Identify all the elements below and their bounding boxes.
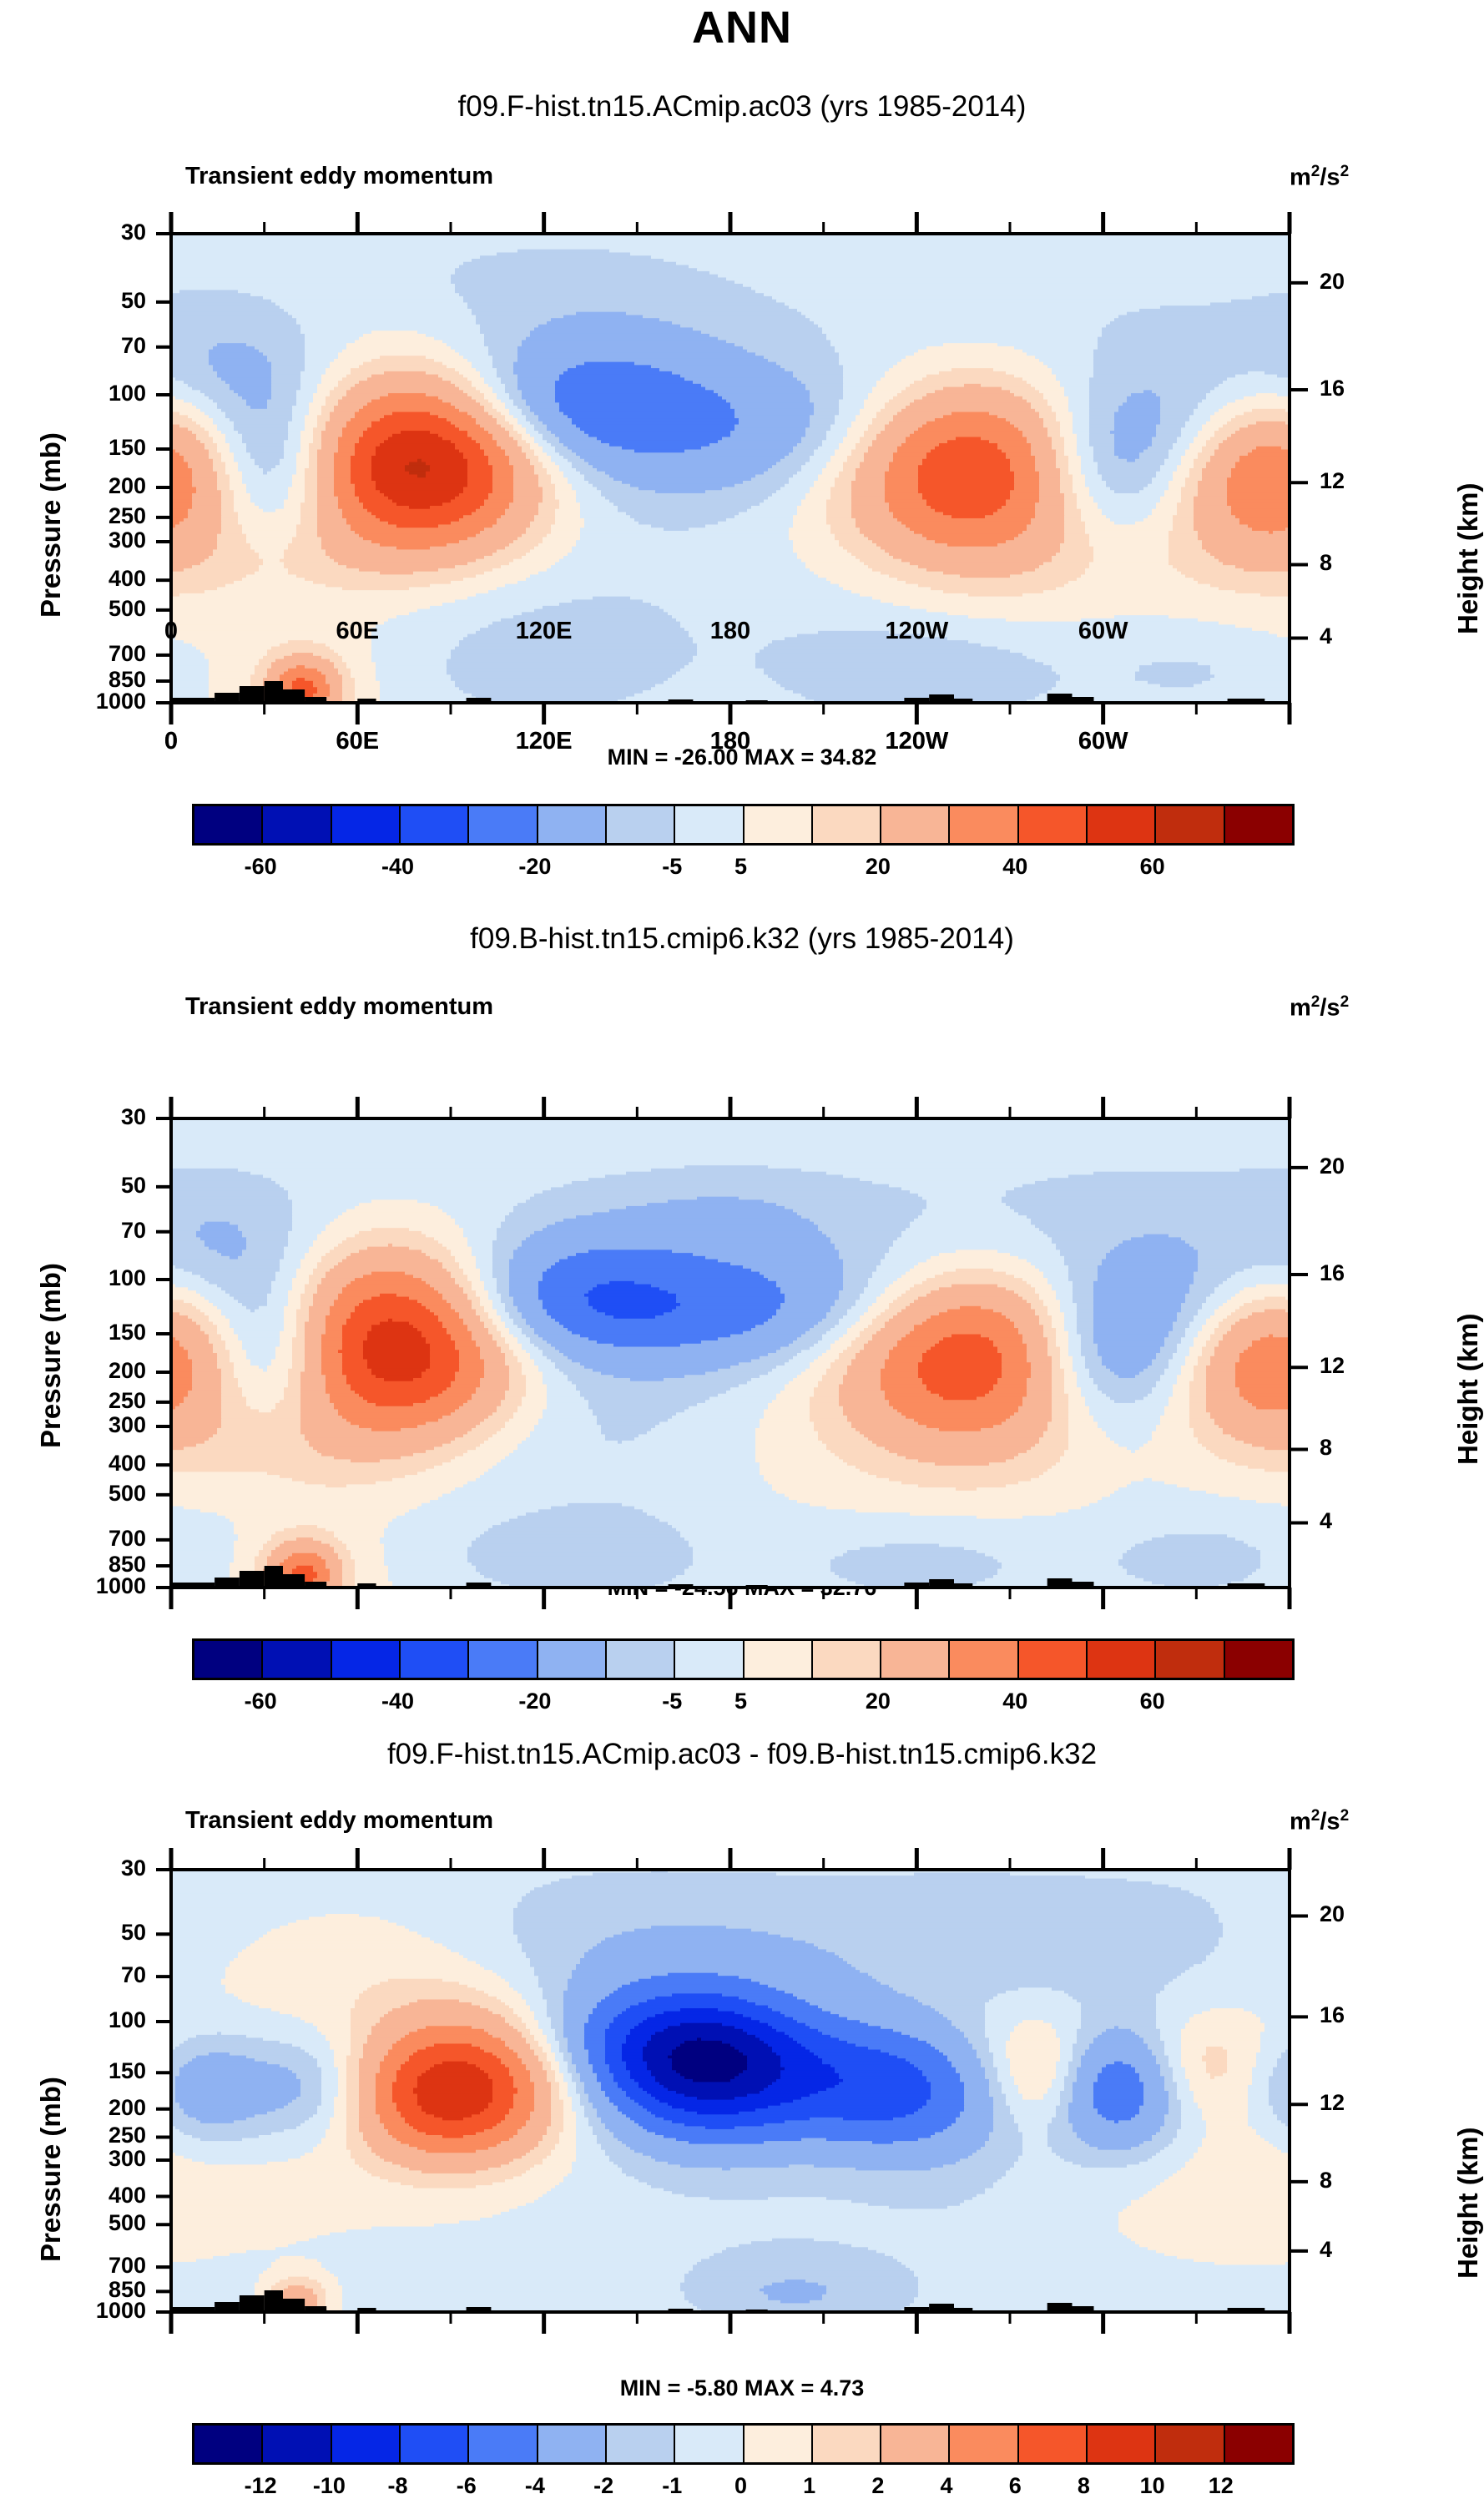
colorbar-tick-label: 40 (965, 1689, 1065, 1714)
colorbar-segment (401, 1641, 469, 1678)
colorbar-segment (1019, 1641, 1088, 1678)
colorbar[interactable] (192, 804, 1295, 846)
height-tick-label: 8 (1320, 550, 1332, 576)
colorbar-segment (1088, 2426, 1156, 2462)
height-tick-label: 16 (1320, 1260, 1345, 1286)
pressure-tick-label: 30 (4, 1855, 146, 1881)
longitude-tick-label: 60E (282, 618, 432, 645)
colorbar-tick-label: 40 (965, 854, 1065, 880)
colorbar-tick-label: 12 (1171, 2473, 1271, 2499)
colorbar-segment (607, 2426, 675, 2462)
colorbar-segment (401, 806, 469, 843)
colorbar-segment (263, 2426, 331, 2462)
colorbar-tick-label: 60 (1103, 1689, 1203, 1714)
colorbar-segment (1156, 1641, 1224, 1678)
pressure-tick-label: 30 (4, 1104, 146, 1130)
colorbar-segment (675, 1641, 744, 1678)
colorbar-segment (950, 1641, 1018, 1678)
height-tick-label: 16 (1320, 376, 1345, 401)
height-tick-label: 8 (1320, 2168, 1332, 2194)
colorbar-segment (1088, 806, 1156, 843)
height-tick-label: 20 (1320, 1154, 1345, 1179)
colorbar-tick-label: -20 (485, 1689, 585, 1714)
pressure-tick-label: 1000 (4, 689, 146, 714)
longitude-tick-label: 180 (655, 728, 805, 755)
pressure-tick-label: 300 (4, 1412, 146, 1438)
colorbar-tick-label: 20 (828, 1689, 928, 1714)
longitude-tick-label: 0 (96, 728, 246, 755)
colorbar-segment (813, 2426, 881, 2462)
panel-difference: f09.F-hist.tn15.ACmip.ac03 - f09.B-hist.… (0, 1719, 1484, 2482)
pressure-tick-label: 100 (4, 381, 146, 406)
plot-canvas (0, 1719, 1484, 2370)
pressure-tick-label: 100 (4, 2007, 146, 2033)
colorbar-segment (1156, 806, 1224, 843)
longitude-tick-label: 120E (469, 618, 619, 645)
colorbar[interactable] (192, 1638, 1295, 1680)
colorbar-segment (950, 806, 1018, 843)
pressure-tick-label: 1000 (4, 2298, 146, 2324)
colorbar-segment (469, 806, 538, 843)
height-tick-label: 4 (1320, 623, 1332, 649)
colorbar-segment (745, 806, 813, 843)
colorbar-segment (881, 1641, 950, 1678)
colorbar[interactable] (192, 2423, 1295, 2465)
pressure-tick-label: 400 (4, 1451, 146, 1477)
pressure-tick-label: 100 (4, 1265, 146, 1291)
colorbar-segment (469, 1641, 538, 1678)
longitude-tick-label: 60W (1028, 728, 1179, 755)
pressure-tick-label: 400 (4, 566, 146, 592)
colorbar-segment (1225, 806, 1292, 843)
colorbar-tick-label: -20 (485, 854, 585, 880)
colorbar-segment (813, 1641, 881, 1678)
colorbar-segment (813, 806, 881, 843)
colorbar-segment (538, 806, 607, 843)
pressure-tick-label: 150 (4, 435, 146, 461)
colorbar-segment (263, 806, 331, 843)
longitude-tick-label: 120W (841, 728, 992, 755)
height-tick-label: 12 (1320, 468, 1345, 494)
colorbar-segment (1019, 806, 1088, 843)
colorbar-segment (881, 806, 950, 843)
colorbar-segment (1225, 2426, 1292, 2462)
colorbar-tick-label: -40 (348, 854, 448, 880)
plot-canvas (0, 0, 1484, 761)
pressure-tick-label: 300 (4, 2146, 146, 2172)
pressure-tick-label: 70 (4, 1962, 146, 1988)
colorbar-tick-label: 5 (691, 1689, 791, 1714)
colorbar-segment (194, 1641, 263, 1678)
colorbar-tick-label: 5 (691, 854, 791, 880)
colorbar-segment (1088, 1641, 1156, 1678)
height-tick-label: 4 (1320, 1508, 1332, 1534)
longitude-tick-label: 120W (841, 618, 992, 645)
pressure-tick-label: 50 (4, 1920, 146, 1946)
longitude-tick-label: 60W (1028, 618, 1179, 645)
pressure-tick-label: 1000 (4, 1573, 146, 1599)
longitude-tick-label: 60E (282, 728, 432, 755)
pressure-tick-label: 500 (4, 1481, 146, 1507)
colorbar-tick-label: -40 (348, 1689, 448, 1714)
panel-model-b: f09.B-hist.tn15.cmip6.k32 (yrs 1985-2014… (0, 885, 1484, 1719)
colorbar-tick-label: 60 (1103, 854, 1203, 880)
colorbar-segment (745, 2426, 813, 2462)
figure-root: ANN f09.F-hist.tn15.ACmip.ac03 (yrs 1985… (0, 0, 1484, 2482)
height-tick-label: 16 (1320, 2002, 1345, 2028)
colorbar-segment (538, 1641, 607, 1678)
pressure-tick-label: 200 (4, 473, 146, 499)
pressure-tick-label: 50 (4, 288, 146, 314)
pressure-tick-label: 150 (4, 2058, 146, 2084)
colorbar-tick-label: -60 (210, 1689, 310, 1714)
colorbar-segment (1225, 1641, 1292, 1678)
colorbar-segment (607, 806, 675, 843)
pressure-tick-label: 200 (4, 2095, 146, 2121)
pressure-tick-label: 250 (4, 1388, 146, 1414)
pressure-tick-label: 70 (4, 1218, 146, 1244)
colorbar-segment (675, 2426, 744, 2462)
height-tick-label: 20 (1320, 1901, 1345, 1927)
pressure-tick-label: 300 (4, 528, 146, 553)
colorbar-segment (1019, 2426, 1088, 2462)
colorbar-segment (194, 2426, 263, 2462)
pressure-tick-label: 500 (4, 2210, 146, 2236)
plot-canvas (0, 885, 1484, 1646)
colorbar-segment (332, 806, 401, 843)
colorbar-segment (194, 806, 263, 843)
pressure-tick-label: 250 (4, 2123, 146, 2148)
colorbar-tick-label: 20 (828, 854, 928, 880)
colorbar-segment (401, 2426, 469, 2462)
colorbar-segment (745, 1641, 813, 1678)
pressure-tick-label: 250 (4, 503, 146, 529)
height-tick-label: 12 (1320, 1353, 1345, 1379)
height-tick-label: 12 (1320, 2090, 1345, 2116)
pressure-tick-label: 50 (4, 1173, 146, 1199)
colorbar-segment (881, 2426, 950, 2462)
colorbar-tick-label: -60 (210, 854, 310, 880)
colorbar-segment (332, 2426, 401, 2462)
longitude-tick-label: 180 (655, 618, 805, 645)
height-tick-label: 8 (1320, 1435, 1332, 1461)
colorbar-segment (607, 1641, 675, 1678)
colorbar-segment (469, 2426, 538, 2462)
minmax-label: MIN = -5.80 MAX = 4.73 (0, 2375, 1484, 2401)
pressure-tick-label: 30 (4, 220, 146, 245)
colorbar-segment (538, 2426, 607, 2462)
colorbar-segment (1156, 2426, 1224, 2462)
pressure-tick-label: 700 (4, 2253, 146, 2279)
colorbar-segment (675, 806, 744, 843)
pressure-tick-label: 400 (4, 2183, 146, 2209)
pressure-tick-label: 200 (4, 1358, 146, 1384)
height-tick-label: 20 (1320, 269, 1345, 295)
height-tick-label: 4 (1320, 2237, 1332, 2263)
longitude-tick-label: 0 (96, 618, 246, 645)
longitude-tick-label: 120E (469, 728, 619, 755)
pressure-tick-label: 700 (4, 1526, 146, 1552)
colorbar-segment (332, 1641, 401, 1678)
pressure-tick-label: 70 (4, 333, 146, 359)
colorbar-segment (950, 2426, 1018, 2462)
colorbar-segment (263, 1641, 331, 1678)
pressure-tick-label: 150 (4, 1320, 146, 1345)
